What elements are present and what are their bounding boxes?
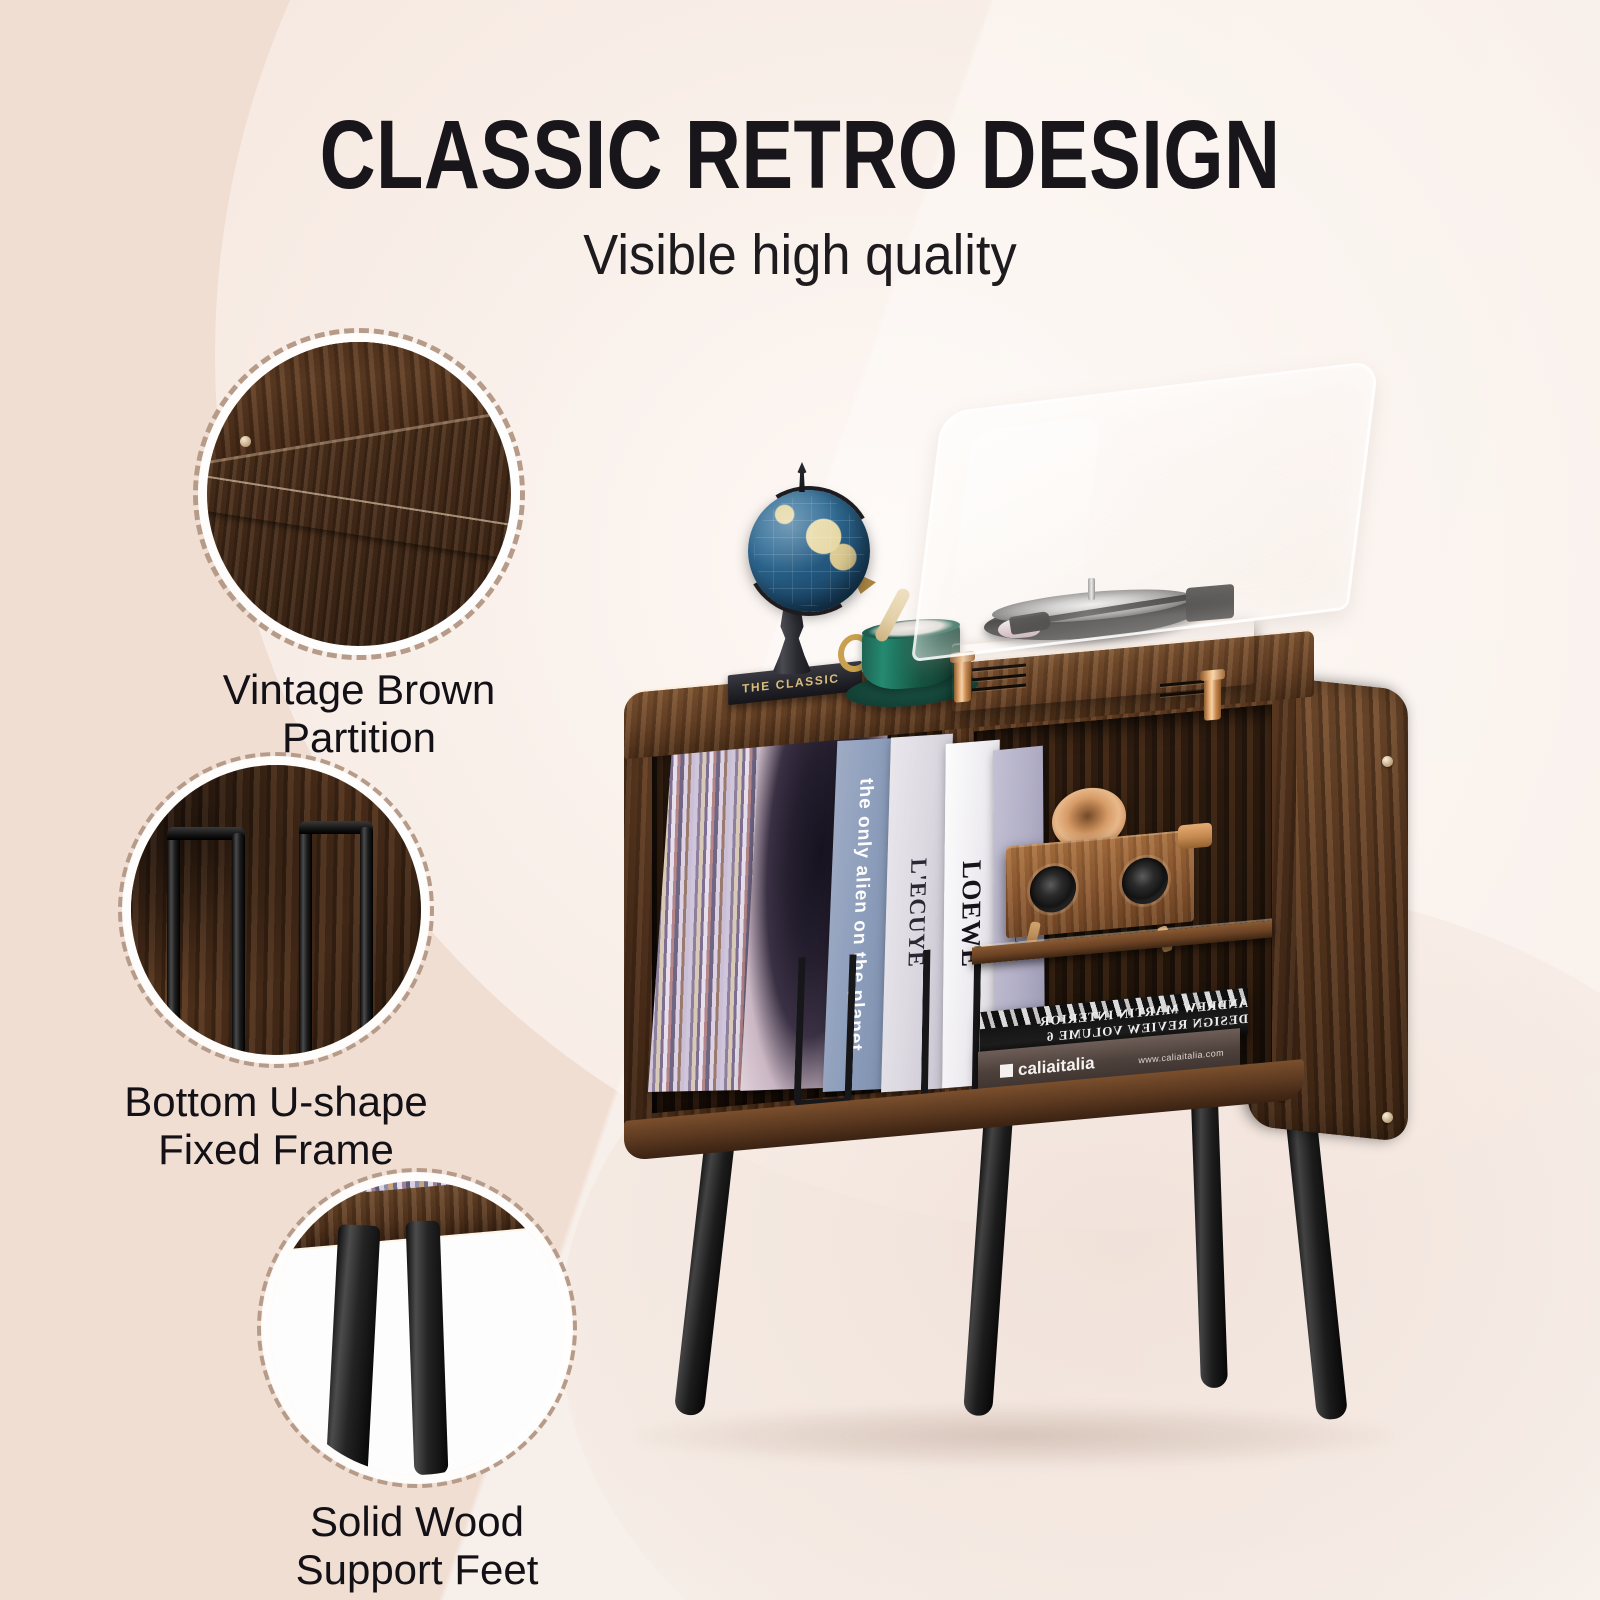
- cabinet-leg: [1191, 1100, 1228, 1389]
- page-subtitle: Visible high quality: [64, 227, 1536, 284]
- book-brand-url: www.caliaitalia.com: [1138, 1048, 1224, 1066]
- cabinet-leg: [963, 1099, 1014, 1416]
- callout-partition: Vintage Brown Partition: [193, 328, 525, 728]
- screw-icon: [1382, 756, 1393, 767]
- callout-partition-image: [207, 342, 511, 646]
- turntable-copper-post: [1204, 675, 1221, 721]
- callout-feet-image: [270, 1181, 564, 1475]
- u-shape-divider: [793, 954, 856, 1108]
- poster-canvas: CLASSIC RETRO DESIGN Visible high qualit…: [0, 0, 1600, 1600]
- speaker-knob: [1178, 822, 1212, 849]
- callout-feet: Solid Wood Support Feet: [257, 1168, 577, 1588]
- speaker-driver: [1122, 856, 1168, 906]
- speaker-driver: [1030, 864, 1076, 914]
- turntable-copper-post: [954, 657, 971, 703]
- callout-u-frame-caption: Bottom U-shape Fixed Frame: [56, 1078, 496, 1174]
- floor-shadow: [636, 1406, 1396, 1466]
- globe-stand: [768, 608, 816, 674]
- callout-u-frame-image: [131, 765, 421, 1055]
- screw-icon: [1382, 1112, 1393, 1123]
- page-title: CLASSIC RETRO DESIGN: [160, 108, 1440, 201]
- turntable-dust-cover: [911, 360, 1379, 662]
- callout-partition-caption: Vintage Brown Partition: [147, 666, 571, 762]
- book-brand-logo: caliaitalia: [1000, 1053, 1095, 1082]
- callout-u-frame: Bottom U-shape Fixed Frame: [118, 752, 434, 1172]
- header: CLASSIC RETRO DESIGN Visible high qualit…: [0, 0, 1600, 284]
- globe-base-book-text: THE CLASSIC: [742, 671, 840, 696]
- cabinet-leg: [1283, 1089, 1348, 1420]
- globe-meridian-ring: [730, 472, 888, 630]
- product-image: the only alien on the planet L'ECUYE LOE…: [600, 400, 1520, 1520]
- callout-feet-caption: Solid Wood Support Feet: [203, 1498, 631, 1594]
- u-shape-divider: [921, 946, 982, 1108]
